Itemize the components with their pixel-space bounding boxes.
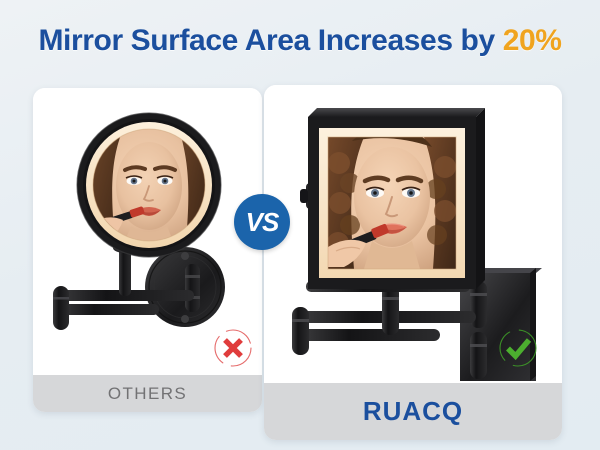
headline-main-text: Mirror Surface Area Increases by	[38, 24, 502, 57]
panel-others-footer: OTHERS	[33, 375, 262, 412]
panel-ruacq-footer: RUACQ	[264, 383, 562, 440]
arm-hinge-wall	[185, 264, 200, 312]
round-mirror	[77, 113, 221, 257]
headline-accent-text: 20%	[503, 24, 562, 57]
green-check-icon	[497, 327, 539, 369]
red-x-icon	[212, 327, 254, 369]
mirror-photo-square	[327, 129, 456, 269]
page-title: Mirror Surface Area Increases by 20%	[0, 24, 600, 58]
vs-badge: VS	[234, 194, 290, 250]
comparison-banner: Mirror Surface Area Increases by 20% OTH…	[0, 0, 600, 450]
square-mirror	[299, 108, 485, 298]
panel-ruacq-label: RUACQ	[363, 396, 463, 427]
vs-badge-label: VS	[246, 209, 279, 235]
panel-others-label: OTHERS	[108, 384, 187, 404]
